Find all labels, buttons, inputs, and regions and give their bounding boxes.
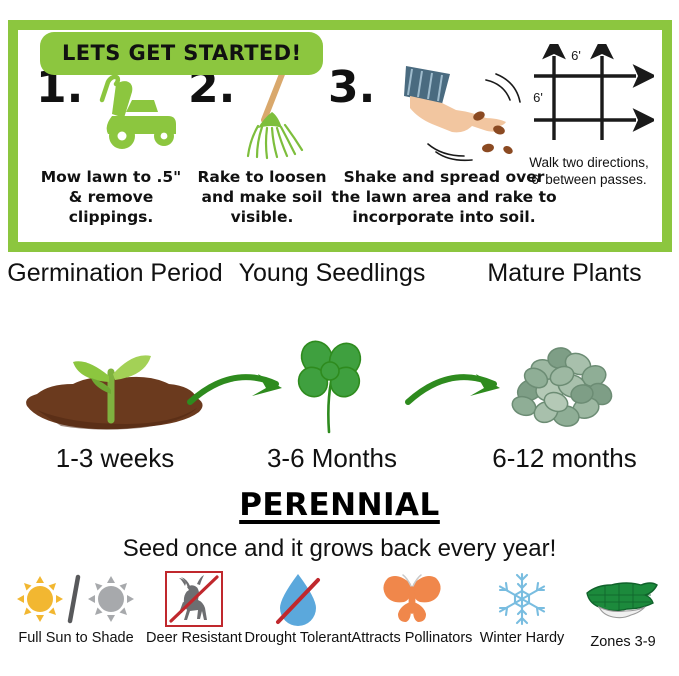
- snowflake-icon: [472, 570, 572, 628]
- stage-young-seedlings: Young Seedlings 3-6 Months: [232, 258, 432, 289]
- grid-arrows-icon: 6' 6': [524, 44, 654, 148]
- stage-young-seedlings-duration: 3-6 Months: [232, 443, 432, 474]
- feature-label: Zones 3-9: [568, 634, 678, 651]
- step-1-caption: Mow lawn to .5" & remove clippings.: [36, 168, 186, 227]
- stage-germination: Germination Period 1-3 weeks: [2, 258, 228, 289]
- perennial-subtitle: Seed once and it grows back every year!: [0, 535, 679, 563]
- feature-label: Full Sun to Shade: [8, 630, 144, 647]
- steps-group: 1. Mow lawn to .5" & remove clippings.: [36, 60, 546, 256]
- stage-young-seedlings-title: Young Seedlings: [232, 258, 432, 289]
- feature-label: Attracts Pollinators: [350, 630, 474, 647]
- leaf-cluster-icon: [452, 332, 677, 436]
- feature-winter-hardy: Winter Hardy: [472, 570, 572, 647]
- butterfly-icon: [350, 570, 474, 628]
- infographic-root: LETS GET STARTED! 1.: [0, 0, 679, 676]
- walk-diagram-caption: Walk two directions, 6' between passes.: [524, 155, 654, 189]
- feature-zones: Zones 3-9: [568, 570, 678, 651]
- get-started-panel: LETS GET STARTED! 1.: [8, 20, 672, 252]
- stage-mature-plants: Mature Plants: [452, 258, 677, 289]
- feature-attracts-pollinators: Attracts Pollinators: [350, 570, 474, 647]
- get-started-badge: LETS GET STARTED!: [40, 32, 323, 75]
- perennial-heading: PERENNIAL: [0, 487, 679, 523]
- stage-germination-duration: 1-3 weeks: [2, 443, 228, 474]
- lawn-mower-icon: [82, 74, 182, 157]
- growth-stages: Germination Period 1-3 weeks: [0, 258, 679, 488]
- sun-and-shade-icon: [8, 570, 144, 628]
- feature-label: Winter Hardy: [472, 630, 572, 647]
- step-3-number: 3.: [328, 66, 375, 110]
- feature-full-sun-to-shade: Full Sun to Shade: [8, 570, 144, 647]
- no-deer-icon: [140, 570, 248, 628]
- no-water-drop-icon: [243, 570, 353, 628]
- svg-text:6': 6': [571, 48, 581, 63]
- feature-deer-resistant: Deer Resistant: [140, 570, 248, 647]
- stage-mature-plants-duration: 6-12 months: [452, 443, 677, 474]
- step-2-caption: Rake to loosen and make soil visible.: [188, 168, 336, 227]
- usa-map-icon: [568, 570, 678, 628]
- stage-germination-title: Germination Period: [2, 258, 228, 289]
- feature-label: Deer Resistant: [140, 630, 248, 647]
- rake-icon: [238, 62, 318, 165]
- svg-text:6': 6': [533, 90, 543, 105]
- perennial-section: PERENNIAL Seed once and it grows back ev…: [0, 487, 679, 563]
- clover-seedling-icon: [232, 332, 432, 436]
- hand-spreading-seed-icon: [376, 60, 526, 167]
- feature-label: Drought Tolerant: [243, 630, 353, 647]
- feature-drought-tolerant: Drought Tolerant: [243, 570, 353, 647]
- stage-mature-plants-title: Mature Plants: [452, 258, 677, 289]
- walk-diagram: 6' 6' Walk two directions, 6' between pa…: [524, 44, 654, 189]
- feature-icons-row: Full Sun to Shade: [0, 570, 679, 676]
